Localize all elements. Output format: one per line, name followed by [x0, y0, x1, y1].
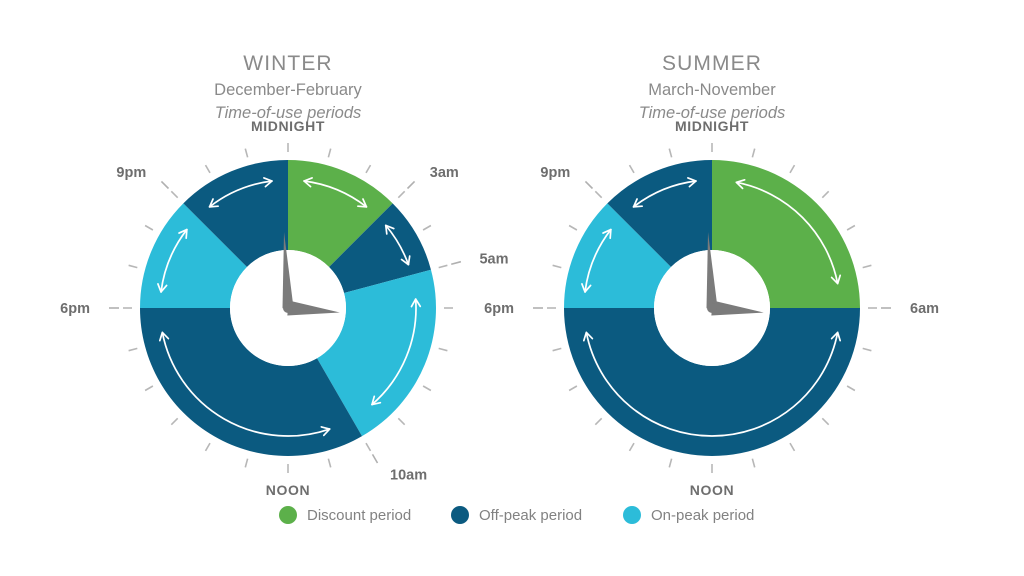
hour-tick	[790, 443, 795, 451]
hour-tick	[822, 418, 828, 424]
heading-summer: SUMMERMarch-NovemberTime-of-use periods	[639, 52, 786, 122]
hour-tick	[206, 443, 211, 451]
hour-tick	[439, 348, 448, 350]
hour-tick	[328, 459, 330, 468]
clock-pivot	[707, 303, 717, 313]
hour-label-5am: 5am	[479, 251, 508, 267]
hour-label-9pm: 9pm	[116, 165, 146, 181]
hour-tick	[630, 443, 635, 451]
legend-swatch	[451, 506, 469, 524]
clock-pivot	[283, 303, 293, 313]
hour-label-10am: 10am	[390, 467, 427, 483]
hour-label-dash	[161, 181, 168, 188]
legend-label: Discount period	[307, 507, 411, 524]
hour-label-3am: 3am	[430, 165, 459, 181]
hour-tick	[398, 191, 404, 197]
panel-title-winter: WINTER	[243, 52, 332, 75]
legend-swatch	[279, 506, 297, 524]
cardinal-label-noon: NOON	[690, 482, 734, 498]
hour-tick	[145, 386, 153, 391]
hour-tick	[630, 165, 635, 173]
legend-item-on-peak-period[interactable]: On-peak period	[623, 506, 754, 524]
legend-label: On-peak period	[651, 507, 754, 524]
hour-tick	[129, 265, 138, 267]
hour-label-6pm: 6pm	[484, 301, 514, 317]
hour-tick	[752, 459, 754, 468]
hour-tick	[669, 459, 671, 468]
hour-tick	[669, 149, 671, 158]
hour-tick	[847, 386, 855, 391]
panel-title-summer: SUMMER	[662, 52, 762, 75]
hour-tick	[129, 348, 138, 350]
hour-tick	[863, 265, 872, 267]
hour-tick	[206, 165, 211, 173]
hour-tick	[847, 226, 855, 231]
hour-tick	[863, 348, 872, 350]
hour-tick	[569, 226, 577, 231]
hour-label-6pm: 6pm	[60, 301, 90, 317]
hour-label-dash	[585, 181, 592, 188]
dial-summer: SUMMERMarch-NovemberTime-of-use periodsD…	[484, 52, 939, 498]
hour-label-dash	[373, 454, 378, 463]
cardinal-label-midnight: MIDNIGHT	[675, 118, 749, 134]
legend-label: Off-peak period	[479, 507, 582, 524]
hour-tick	[423, 226, 431, 231]
cardinal-label-noon: NOON	[266, 482, 310, 498]
hour-label-dash	[451, 262, 461, 265]
hour-tick	[366, 165, 371, 173]
hour-tick	[245, 149, 247, 158]
hour-tick	[752, 149, 754, 158]
hour-tick	[822, 191, 828, 197]
hour-tick	[439, 265, 448, 267]
time-of-use-infographic: WINTERDecember-FebruaryTime-of-use perio…	[0, 0, 1024, 576]
legend: Discount periodOff-peak periodOn-peak pe…	[279, 506, 754, 524]
cardinal-label-midnight: MIDNIGHT	[251, 118, 325, 134]
heading-winter: WINTERDecember-FebruaryTime-of-use perio…	[214, 52, 362, 122]
hour-tick	[171, 191, 177, 197]
hour-tick	[245, 459, 247, 468]
hour-tick	[145, 226, 153, 231]
legend-item-off-peak-period[interactable]: Off-peak period	[451, 506, 582, 524]
hour-tick	[553, 348, 562, 350]
hour-tick	[171, 418, 177, 424]
hour-label-6am: 6am	[910, 301, 939, 317]
hour-tick	[790, 165, 795, 173]
legend-item-discount-period[interactable]: Discount period	[279, 506, 411, 524]
dial-winter: WINTERDecember-FebruaryTime-of-use perio…	[60, 52, 508, 498]
hour-label-9pm: 9pm	[540, 165, 570, 181]
hour-tick	[366, 443, 371, 451]
hour-tick	[398, 418, 404, 424]
hour-tick	[569, 386, 577, 391]
panel-subtitle-summer: March-November	[648, 81, 776, 99]
hour-tick	[328, 149, 330, 158]
legend-swatch	[623, 506, 641, 524]
hour-tick	[553, 265, 562, 267]
hour-tick	[595, 191, 601, 197]
panel-subtitle-winter: December-February	[214, 81, 362, 99]
hour-tick	[595, 418, 601, 424]
hour-tick	[423, 386, 431, 391]
hour-label-dash	[408, 181, 415, 188]
